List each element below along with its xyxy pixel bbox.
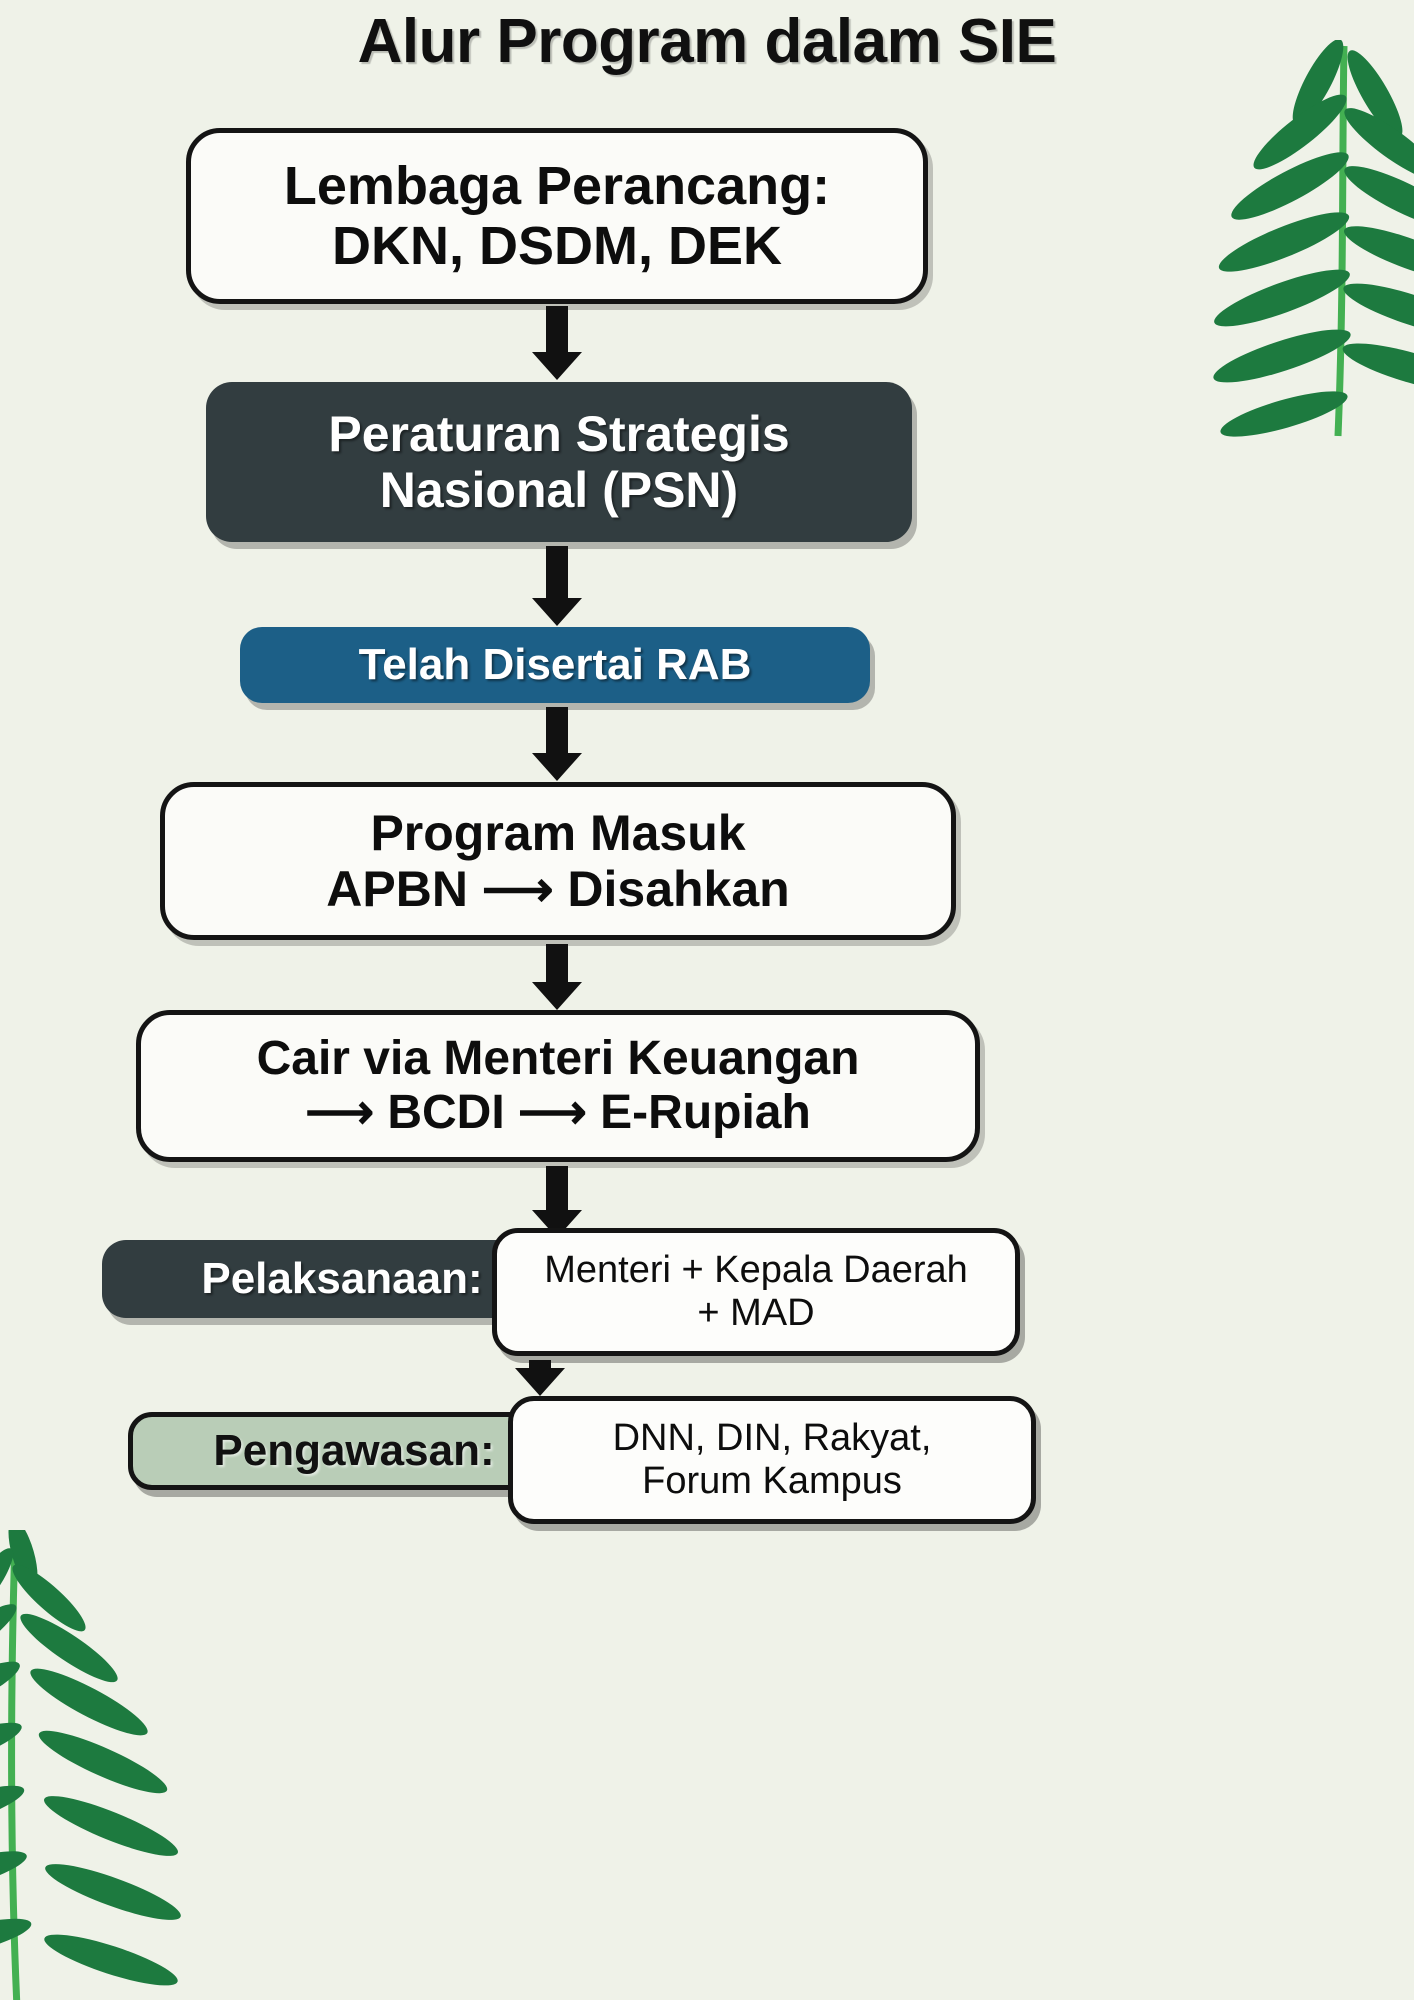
flow-node-telah-disertai-rab: Telah Disertai RAB — [240, 627, 870, 703]
flow-node-label: DNN, DIN, Rakyat, Forum Kampus — [513, 1417, 1031, 1502]
flow-node-lembaga-perancang: Lembaga Perancang: DKN, DSDM, DEK — [186, 128, 928, 304]
arrow-pelaksanaan-to-pengawasan — [529, 1360, 551, 1370]
flow-node-peraturan-strategis-nasional: Peraturan Strategis Nasional (PSN) — [206, 382, 912, 542]
flow-node-label: Program Masuk APBN ⟶ Disahkan — [165, 805, 951, 917]
arrow-psn-to-rab — [546, 546, 568, 600]
flow-node-pelaksanaan-actors: Menteri + Kepala Daerah + MAD — [492, 1228, 1020, 1356]
flow-node-program-masuk-apbn: Program Masuk APBN ⟶ Disahkan — [160, 782, 956, 940]
flow-node-label: Lembaga Perancang: DKN, DSDM, DEK — [191, 156, 923, 277]
page-title: Alur Program dalam SIE — [0, 6, 1414, 77]
infographic-canvas: Alur Program dalam SIE Lembaga Perancang… — [0, 0, 1414, 2000]
flow-node-cair-via-menteri-keuangan: Cair via Menteri Keuangan ⟶ BCDI ⟶ E-Rup… — [136, 1010, 980, 1162]
arrow-lembaga-to-psn — [546, 306, 568, 354]
fern-leaf-icon — [1094, 40, 1414, 440]
fern-leaf-icon — [0, 1530, 275, 2000]
flow-node-label: Telah Disertai RAB — [240, 640, 870, 689]
arrow-rab-to-apbn — [546, 707, 568, 755]
flow-node-label: Cair via Menteri Keuangan ⟶ BCDI ⟶ E-Rup… — [141, 1032, 975, 1140]
flow-node-label: Peraturan Strategis Nasional (PSN) — [206, 406, 912, 518]
arrow-cair-to-pelaksanaan — [546, 1166, 568, 1212]
flow-node-label: Menteri + Kepala Daerah + MAD — [497, 1249, 1015, 1334]
flow-node-pengawasan-actors: DNN, DIN, Rakyat, Forum Kampus — [508, 1396, 1036, 1524]
arrow-apbn-to-cair — [546, 944, 568, 984]
